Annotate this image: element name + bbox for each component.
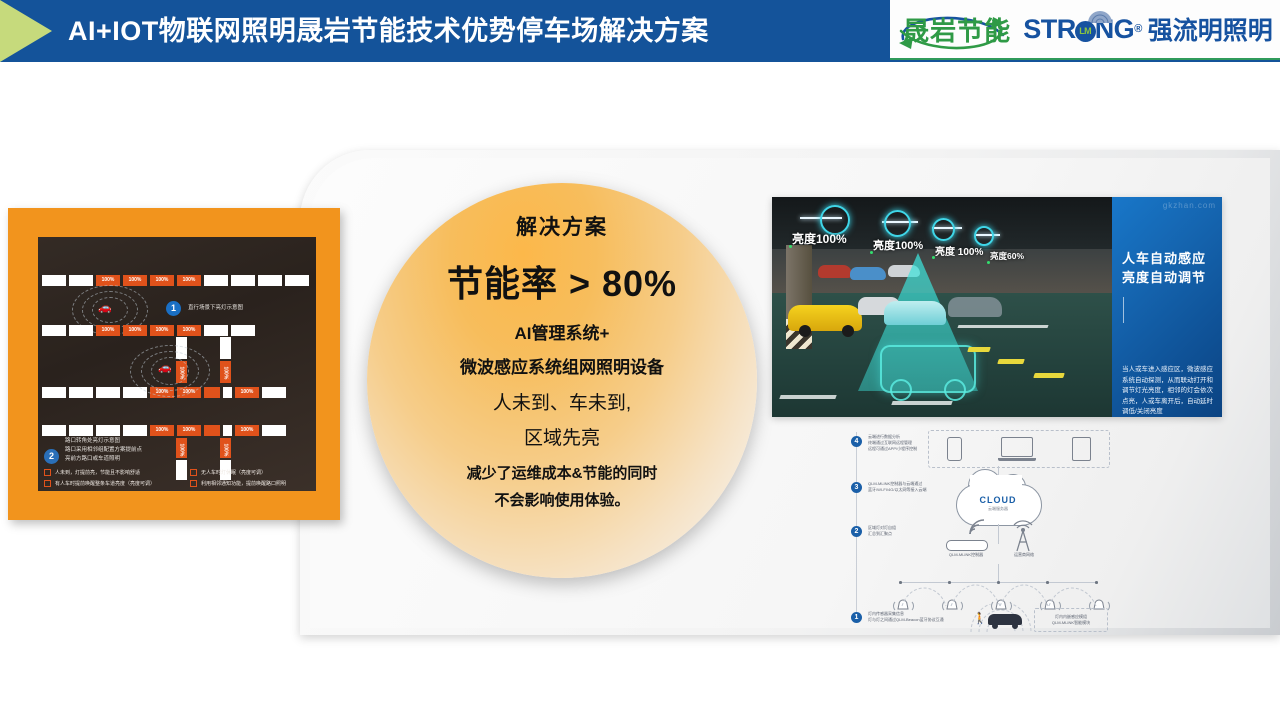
legend-bullet-icon [190, 480, 197, 487]
road-band-row1: 100% 100% 100% 100% [42, 275, 309, 286]
parking-garage-photo: 亮度100% 亮度100% 亮度 100% 亮度60% gkzhan.com 人… [772, 197, 1222, 417]
net-step-badge-3: 3 [851, 482, 862, 493]
lane-marking [1033, 373, 1065, 378]
legend-item: 利用相邻通知功能，提前唤醒路口照明 [190, 480, 286, 487]
lamp-slot-vertical [176, 460, 187, 480]
net-step-4-line3: 远程可通过APP/小程序控制 [868, 446, 917, 452]
diagram-badge-2: 2 [44, 449, 59, 464]
diagram-spine [856, 432, 857, 616]
highlighted-car [884, 301, 946, 325]
router-body-icon [946, 540, 988, 551]
watermark-text: gkzhan.com [1163, 201, 1216, 210]
diagram-note-2-line2: 路口采用相邻组配置方案提前点 [65, 446, 142, 454]
lamp-sensor-ring [932, 218, 955, 241]
lamp-slot-label: 100% [179, 444, 185, 455]
logo-brand-cn2: 强流明照明 [1148, 11, 1273, 47]
logo-strong-wordmark: STR LM NG ® [1023, 14, 1142, 45]
lamp-slot: 100% [96, 325, 120, 336]
car-wheel [799, 325, 811, 337]
net-step-3-line2: 蓝牙/WI-FI/4G/以太网等接入云端 [868, 487, 926, 493]
road-band-row2: 100% 100% 100% 100% [42, 325, 255, 336]
legend-bullet-icon [190, 469, 197, 476]
lane-marking [779, 395, 836, 399]
road-band-row4: 100% 100% 100% [42, 425, 286, 436]
registered-icon: ® [1134, 23, 1142, 35]
diagram-note-2-line3: 亮前方路口或车道照明 [65, 455, 120, 463]
brightness-tag: 亮度100% [873, 237, 923, 253]
logo-brand-cn: 晟岩节能 [897, 11, 1017, 48]
diagram-note-2-line1: 路口转角处亮灯示意图 [65, 437, 120, 445]
lamp-slot: 100% [177, 425, 201, 436]
lane-marking [957, 325, 1048, 328]
ghost-car-wheel [944, 379, 966, 401]
net-step-badge-1: 1 [851, 612, 862, 623]
solution-title: 解决方案 [516, 211, 608, 241]
legend-label: 利用相邻通知功能，提前唤醒路口照明 [201, 481, 286, 487]
module-note-box: 灯内内嵌感应模组 QLM-MLINK智能模块 [1034, 608, 1108, 632]
lamp-slot-label: 100% [223, 367, 229, 378]
cloud-label: CLOUD [956, 495, 1040, 505]
parking-layout-diagram: 100% 100% 100% 100% 🚗 1 直行场景下亮灯示意图 100% … [38, 237, 316, 491]
lamp-slot: 100% [235, 425, 259, 436]
blue-feature-panel: gkzhan.com 人车自动感应 亮度自动调节 当人或车进入感应区，微波感应系… [1112, 197, 1222, 417]
divider-line [1123, 297, 1124, 323]
lamp-slot-vertical: 100% [176, 438, 187, 458]
feature-title: 人车自动感应 亮度自动调节 [1122, 249, 1206, 287]
lane-marking [967, 347, 991, 352]
smartphone-icon [947, 437, 962, 461]
legend-label: 无人车时灯休眠（亮度可调） [201, 470, 266, 476]
link-line [998, 524, 999, 544]
lamp-slot-vertical: 100% [220, 438, 231, 458]
lamp-slot: 100% [235, 387, 259, 398]
page-title: AI+IOT物联网照明晟岩节能技术优势停车场解决方案 [68, 0, 709, 62]
iot-network-diagram: 4 云端进行数据分析 终端通过互联网远程管理 远程可通过APP/小程序控制 3 … [838, 424, 1130, 636]
diagram-note-1: 直行场景下亮灯示意图 [188, 304, 243, 312]
lamp-slot [204, 425, 220, 436]
brightness-tag: 亮度60% [990, 250, 1024, 262]
lamp-slot-vertical: 100% [220, 361, 231, 383]
tablet-icon [1072, 437, 1091, 461]
lamp-slot [204, 387, 220, 398]
legend-item: 人未到，灯提前亮，节能且不影响舒适 [44, 469, 140, 476]
lane-marking [997, 359, 1025, 364]
logo-lm-badge: LM [1075, 21, 1096, 42]
solution-line-6: 不会影响使用体验。 [494, 489, 629, 510]
solution-line-3: 人未到、车未到, [493, 388, 631, 415]
car-wheel [842, 325, 854, 337]
car-icon: 🚗 [98, 301, 112, 314]
pedestrian-icon: 🚶 [973, 612, 987, 625]
terminal-devices-box [928, 430, 1110, 468]
parked-car [850, 267, 886, 280]
parked-car [948, 297, 1002, 317]
parked-car [818, 265, 852, 278]
lamp-slot: 100% [177, 325, 201, 336]
car-icon: 🚗 [158, 361, 172, 374]
feature-title-line1: 人车自动感应 [1122, 249, 1206, 268]
legend-bullet-icon [44, 480, 51, 487]
net-step-badge-4: 4 [851, 436, 862, 447]
lamp-sensor-ring [884, 210, 911, 237]
lamp-slot: 100% [177, 275, 201, 286]
legend-item: 有人车时提前唤醒整条车道亮度（亮度可调） [44, 480, 155, 487]
lamp-slot: 100% [123, 325, 147, 336]
solution-line-4: 区域先亮 [524, 423, 600, 450]
feature-title-line2: 亮度自动调节 [1122, 268, 1206, 287]
ghost-car-wheel [890, 379, 912, 401]
legend-bullet-icon [44, 469, 51, 476]
net-step-2-line2: 汇总到汇聚点 [868, 531, 892, 537]
legend-label: 人未到，灯提前亮，节能且不影响舒适 [55, 470, 140, 476]
cloud-sublabel: 云端服务器 [956, 506, 1040, 512]
brightness-tag: 亮度100% [792, 230, 847, 247]
net-step-badge-2: 2 [851, 526, 862, 537]
garage-scene: 亮度100% 亮度100% 亮度 100% 亮度60% [772, 197, 1112, 417]
lamp-slot: 100% [150, 275, 174, 286]
diagram-badge-1: 1 [166, 301, 181, 316]
solution-line-2: 微波感应系统组网照明设备 [460, 353, 664, 378]
solution-line-5: 减少了运维成本&节能的同时 [467, 462, 658, 483]
module-note-line2: QLM-MLINK智能模块 [1035, 620, 1107, 626]
company-logo: 晟岩节能 STR LM NG ® 强流明照明 [890, 0, 1280, 60]
lamp-slot: 100% [150, 325, 174, 336]
net-step-1-line2: 灯与灯之间通过QLM-Beacon蓝牙协议互通 [868, 617, 944, 623]
laptop-icon [998, 437, 1036, 461]
lane-marking [891, 401, 952, 405]
page-header: AI+IOT物联网照明晟岩节能技术优势停车场解决方案 晟岩节能 STR LM N… [0, 0, 1280, 62]
lamp-slot-vertical [220, 337, 231, 359]
lamp-slot: 100% [123, 275, 147, 286]
lamp-slot: 100% [150, 425, 174, 436]
fan-icon [1087, 10, 1113, 23]
legend-label: 有人车时提前唤醒整条车道亮度（亮度可调） [55, 481, 155, 487]
left-orange-panel: 100% 100% 100% 100% 🚗 1 直行场景下亮灯示意图 100% … [8, 208, 340, 520]
feature-description: 当人或车进入感应区，微波感应系统自动探测，从而联动打开和调节灯光亮度，相邻的灯会… [1122, 365, 1217, 417]
energy-saving-headline: 节能率 > 80% [447, 255, 677, 307]
solution-highlight-ellipse: 解决方案 节能率 > 80% AI管理系统+ 微波感应系统组网照明设备 人未到、… [367, 183, 757, 578]
logo-strong-part1: STR [1023, 14, 1076, 45]
carrier-network-label: 运营商网络 [996, 552, 1052, 558]
lamp-slot-label: 100% [223, 444, 229, 455]
brightness-tag: 亮度 100% [935, 243, 983, 258]
legend-item: 无人车时灯休眠（亮度可调） [190, 469, 266, 476]
router-label: QLM-MLINK控制器 [934, 552, 998, 558]
solution-line-1: AI管理系统+ [515, 319, 610, 344]
